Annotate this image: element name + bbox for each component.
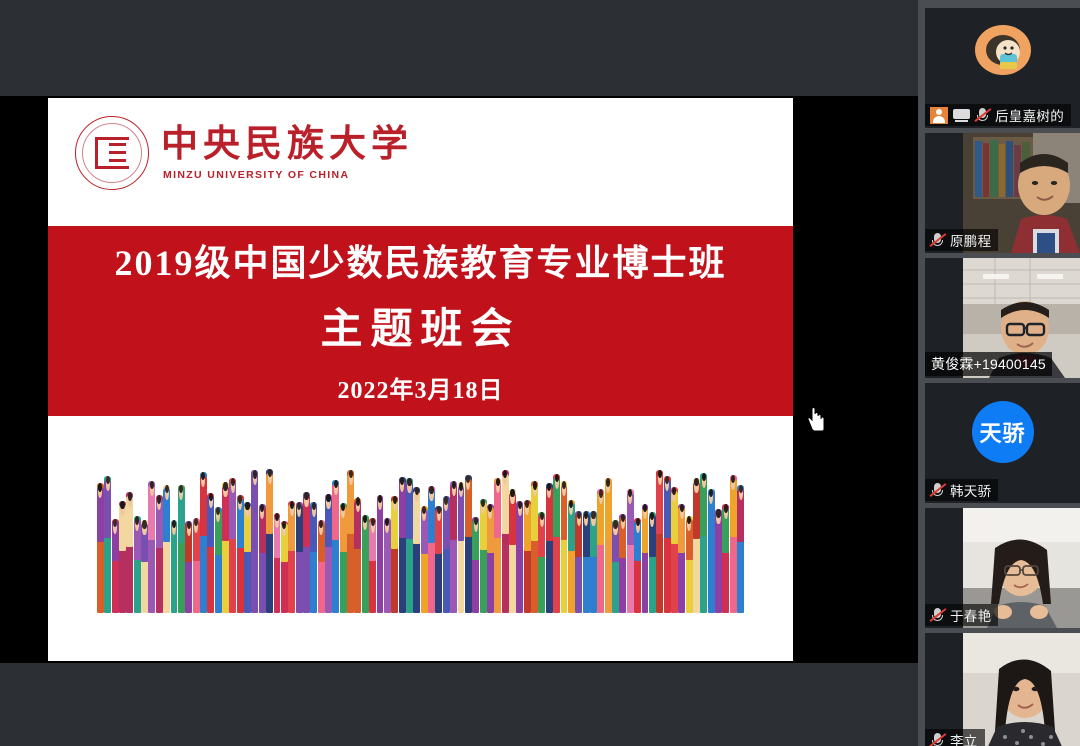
crowd-person <box>178 463 185 613</box>
crowd-person <box>715 463 722 613</box>
crowd-person <box>266 463 273 613</box>
crowd-person <box>479 463 486 613</box>
crowd-person <box>538 463 545 613</box>
crowd-person <box>354 463 361 613</box>
crowd-person <box>494 463 501 613</box>
crowd-person <box>185 463 192 613</box>
crowd-person <box>259 463 266 613</box>
crowd-person <box>376 463 383 613</box>
avatar-initials: 天骄 <box>972 401 1034 463</box>
crowd-person <box>398 463 405 613</box>
mic-muted-icon <box>930 232 945 249</box>
crowd-person <box>619 463 626 613</box>
participant-tile[interactable]: 李立 <box>925 633 1080 746</box>
crowd-person <box>288 463 295 613</box>
screen-share-video[interactable]: 中央民族大学 MINZU UNIVERSITY OF CHINA 2019级中国… <box>0 96 918 663</box>
crowd-person <box>214 463 221 613</box>
mic-muted-icon <box>930 732 945 746</box>
crowd-person <box>332 463 339 613</box>
university-seal-icon <box>75 116 149 190</box>
slide-date: 2022年3月18日 <box>48 370 793 405</box>
crowd-person <box>737 463 744 613</box>
screen-share-icon <box>953 109 970 122</box>
crowd-person <box>443 463 450 613</box>
crowd-person <box>391 463 398 613</box>
crowd-person <box>229 463 236 613</box>
participant-tile[interactable]: 于春艳 <box>925 508 1080 628</box>
crowd-person <box>501 463 508 613</box>
mic-muted-icon <box>975 107 990 124</box>
crowd-person <box>649 463 656 613</box>
crowd-person <box>273 463 280 613</box>
crowd-person <box>126 463 133 613</box>
participant-name: 黄俊霖+19400145 <box>925 352 1052 376</box>
crowd-person <box>656 463 663 613</box>
crowd-person <box>340 463 347 613</box>
shared-screen-stage[interactable]: 中央民族大学 MINZU UNIVERSITY OF CHINA 2019级中国… <box>0 0 918 746</box>
crowd-person <box>531 463 538 613</box>
crowd-person <box>700 463 707 613</box>
crowd-person <box>730 463 737 613</box>
crowd-person <box>384 463 391 613</box>
crowd-person <box>369 463 376 613</box>
crowd-person <box>524 463 531 613</box>
crowd-person <box>590 463 597 613</box>
crowd-person <box>568 463 575 613</box>
participant-tile[interactable]: 原鹏程 <box>925 133 1080 253</box>
crowd-person <box>560 463 567 613</box>
crowd-person <box>207 463 214 613</box>
participant-namebar: 原鹏程 <box>925 229 998 251</box>
crowd-person <box>457 463 464 613</box>
crowd-person <box>627 463 634 613</box>
crowd-person <box>170 463 177 613</box>
crowd-person <box>722 463 729 613</box>
crowd-person <box>244 463 251 613</box>
crowd-person <box>406 463 413 613</box>
crowd-person <box>435 463 442 613</box>
crowd-illustration <box>70 463 771 613</box>
crowd-person <box>516 463 523 613</box>
person-icon <box>930 107 948 124</box>
university-name-cn: 中央民族大学 <box>161 125 413 165</box>
slide-group-photo <box>48 416 793 661</box>
university-name-en: MINZU UNIVERSITY OF CHINA <box>163 169 413 181</box>
crowd-person <box>295 463 302 613</box>
participant-name: 李立 <box>950 730 978 746</box>
crowd-person <box>362 463 369 613</box>
crowd-person <box>671 463 678 613</box>
participant-name: 后皇嘉树的 <box>995 105 1064 125</box>
crowd-person <box>347 463 354 613</box>
crowd-person <box>575 463 582 613</box>
avatar <box>972 22 1034 78</box>
crowd-person <box>641 463 648 613</box>
participant-name: 韩天骄 <box>950 480 991 500</box>
slide-header: 中央民族大学 MINZU UNIVERSITY OF CHINA <box>48 98 793 226</box>
crowd-person <box>678 463 685 613</box>
crowd-person <box>303 463 310 613</box>
participant-tile[interactable]: 天骄 韩天骄 <box>925 383 1080 503</box>
crowd-person <box>413 463 420 613</box>
crowd-person <box>251 463 258 613</box>
crowd-person <box>148 463 155 613</box>
crowd-person <box>428 463 435 613</box>
participant-name: 原鹏程 <box>950 230 991 250</box>
crowd-person <box>663 463 670 613</box>
crowd-person <box>553 463 560 613</box>
mouse-cursor-pointer-icon <box>806 407 828 433</box>
crowd-person <box>192 463 199 613</box>
crowd-person <box>111 463 118 613</box>
university-logo: 中央民族大学 MINZU UNIVERSITY OF CHINA <box>75 116 413 190</box>
crowd-person <box>119 463 126 613</box>
crowd-person <box>465 463 472 613</box>
crowd-person <box>693 463 700 613</box>
crowd-person <box>487 463 494 613</box>
crowd-person <box>450 463 457 613</box>
conference-window: 中央民族大学 MINZU UNIVERSITY OF CHINA 2019级中国… <box>0 0 1080 746</box>
crowd-person <box>97 463 104 613</box>
crowd-person <box>509 463 516 613</box>
crowd-person <box>281 463 288 613</box>
participant-tile[interactable]: 后皇嘉树的 <box>925 8 1080 128</box>
crowd-person <box>685 463 692 613</box>
crowd-person <box>156 463 163 613</box>
slide-title-line2: 主题班会 <box>48 295 793 356</box>
crowd-person <box>317 463 324 613</box>
crowd-person <box>582 463 589 613</box>
crowd-person <box>237 463 244 613</box>
participant-rail[interactable]: 后皇嘉树的 <box>918 0 1080 746</box>
crowd-person <box>708 463 715 613</box>
crowd-person <box>604 463 611 613</box>
crowd-person <box>200 463 207 613</box>
crowd-person <box>104 463 111 613</box>
slide-title-line1: 2019级中国少数民族教育专业博士班 <box>48 240 793 287</box>
participant-namebar: 后皇嘉树的 <box>925 104 1071 126</box>
crowd-person <box>163 463 170 613</box>
participant-tile[interactable]: 黄俊霖+19400145 <box>925 258 1080 378</box>
crowd-person <box>310 463 317 613</box>
participant-name: 于春艳 <box>950 605 991 625</box>
crowd-person <box>612 463 619 613</box>
mic-muted-icon <box>930 607 945 624</box>
mic-muted-icon <box>930 482 945 499</box>
slide-title-band: 2019级中国少数民族教育专业博士班 主题班会 2022年3月18日 <box>48 226 793 416</box>
crowd-person <box>472 463 479 613</box>
crowd-person <box>421 463 428 613</box>
crowd-person <box>325 463 332 613</box>
crowd-person <box>222 463 229 613</box>
crowd-person <box>597 463 604 613</box>
participant-namebar: 李立 <box>925 729 985 746</box>
participant-namebar: 于春艳 <box>925 604 998 626</box>
crowd-person <box>546 463 553 613</box>
cropped-bottom-toolbar <box>0 732 918 746</box>
crowd-person <box>133 463 140 613</box>
presentation-slide: 中央民族大学 MINZU UNIVERSITY OF CHINA 2019级中国… <box>48 98 793 661</box>
participant-namebar: 韩天骄 <box>925 479 998 501</box>
crowd-person <box>141 463 148 613</box>
crowd-person <box>634 463 641 613</box>
